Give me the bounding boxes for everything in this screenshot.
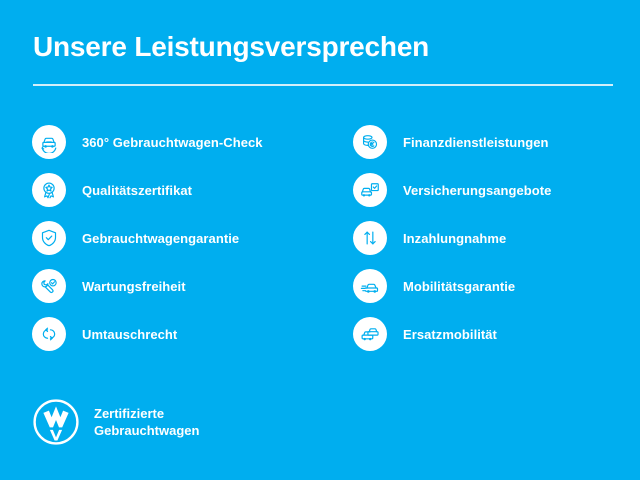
promise-item[interactable]: Gebrauchtwagengarantie bbox=[32, 214, 330, 262]
promise-item[interactable]: Inzahlungnahme bbox=[353, 214, 640, 262]
exchange-arrows-icon bbox=[32, 317, 66, 351]
car-speed-icon bbox=[353, 269, 387, 303]
wrench-check-icon bbox=[32, 269, 66, 303]
promise-item[interactable]: Wartungsfreiheit bbox=[32, 262, 330, 310]
promise-item[interactable]: Mobilitätsgarantie bbox=[353, 262, 640, 310]
promise-label: Wartungsfreiheit bbox=[82, 279, 186, 294]
footer-line-2: Gebrauchtwagen bbox=[94, 422, 199, 439]
promise-label: Versicherungsangebote bbox=[403, 183, 551, 198]
promise-label: Mobilitätsgarantie bbox=[403, 279, 515, 294]
promise-label: 360° Gebrauchtwagen-Check bbox=[82, 135, 263, 150]
shield-check-icon bbox=[32, 221, 66, 255]
volkswagen-logo bbox=[32, 398, 80, 446]
footer-line-1: Zertifizierte bbox=[94, 405, 199, 422]
footer-label: Zertifizierte Gebrauchtwagen bbox=[94, 405, 199, 439]
promise-item[interactable]: 360° Gebrauchtwagen-Check bbox=[32, 118, 330, 166]
two-cars-icon bbox=[353, 317, 387, 351]
arrows-up-down-icon bbox=[353, 221, 387, 255]
quality-award-rosette-icon bbox=[32, 173, 66, 207]
promise-label: Gebrauchtwagengarantie bbox=[82, 231, 239, 246]
promise-label: Inzahlungnahme bbox=[403, 231, 506, 246]
promises-columns: 360° Gebrauchtwagen-Check Qualitätszerti… bbox=[0, 118, 640, 358]
promises-column-left: 360° Gebrauchtwagen-Check Qualitätszerti… bbox=[0, 118, 330, 358]
slide-root: Unsere Leistungsversprechen 360° G bbox=[0, 0, 640, 480]
coins-euro-icon bbox=[353, 125, 387, 159]
promise-item[interactable]: Qualitätszertifikat bbox=[32, 166, 330, 214]
promise-label: Ersatzmobilität bbox=[403, 327, 497, 342]
footer-branding: Zertifizierte Gebrauchtwagen bbox=[32, 398, 199, 446]
title-divider bbox=[33, 84, 613, 86]
promise-label: Qualitätszertifikat bbox=[82, 183, 192, 198]
promises-column-right: Finanzdienstleistungen Versicherungsange… bbox=[330, 118, 640, 358]
promise-item[interactable]: Umtauschrecht bbox=[32, 310, 330, 358]
promise-item[interactable]: Finanzdienstleistungen bbox=[353, 118, 640, 166]
promise-item[interactable]: Versicherungsangebote bbox=[353, 166, 640, 214]
promise-label: Finanzdienstleistungen bbox=[403, 135, 549, 150]
car-inspection-360-icon bbox=[32, 125, 66, 159]
car-document-check-icon bbox=[353, 173, 387, 207]
promise-item[interactable]: Ersatzmobilität bbox=[353, 310, 640, 358]
page-title: Unsere Leistungsversprechen bbox=[33, 30, 429, 64]
promise-label: Umtauschrecht bbox=[82, 327, 177, 342]
